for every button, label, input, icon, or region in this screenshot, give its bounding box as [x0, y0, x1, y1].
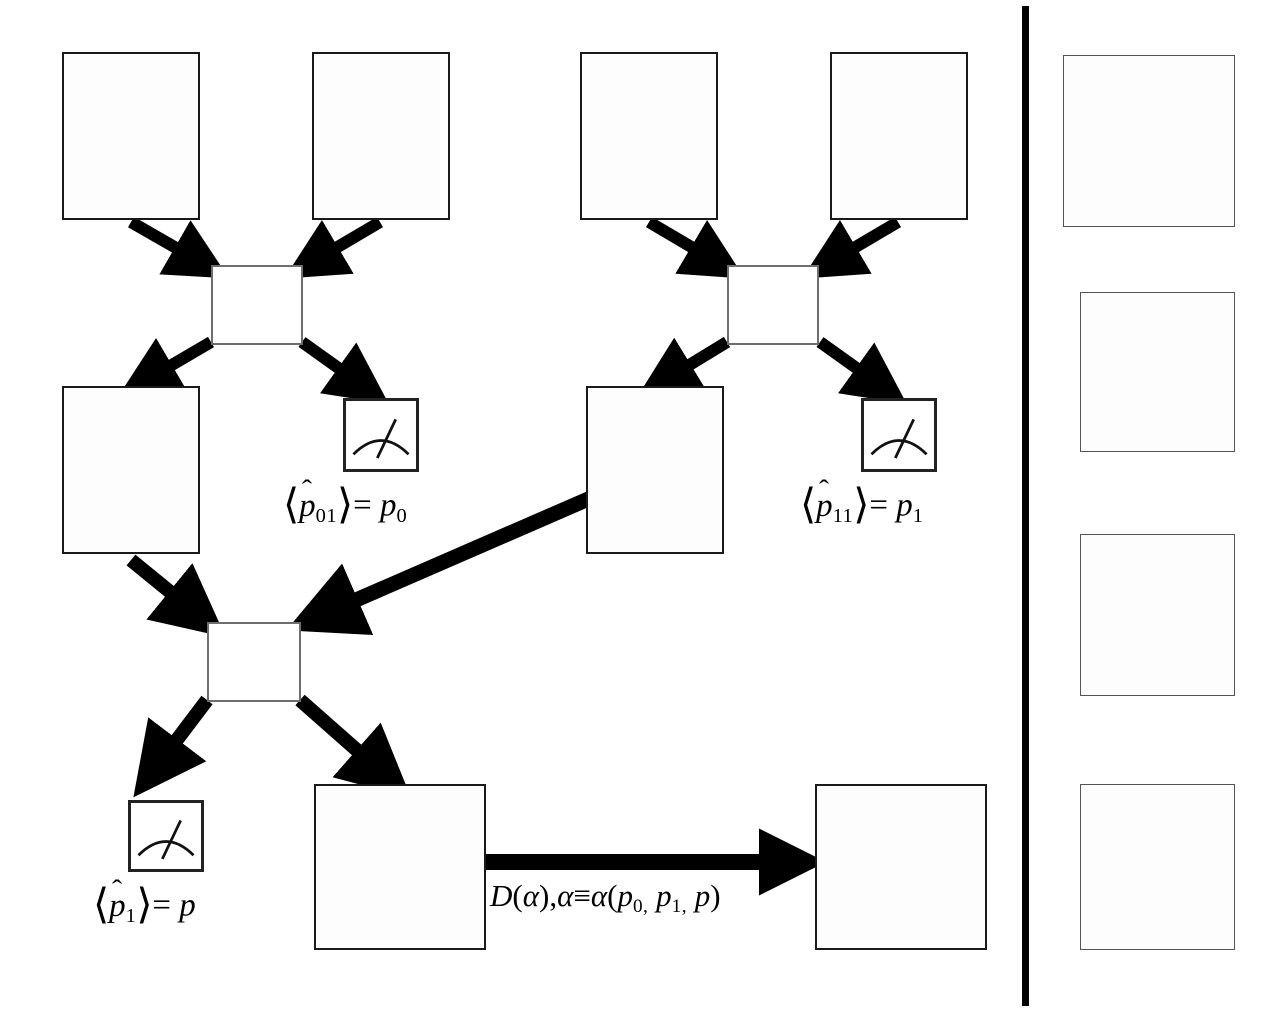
beamsplitter-right: [727, 265, 819, 345]
correct-formula: D(α),α≡α(p0, p1, p): [490, 880, 721, 916]
right-wigner-plot-final: [1080, 534, 1235, 696]
wigner-plot-final-corr: [815, 784, 987, 950]
panel-divider: [1022, 6, 1029, 1006]
wigner-plot-final: [314, 784, 486, 950]
figure-canvas: ⟨̂p01⟩= p0 ⟨̂p11⟩= p1 ⟨̂p1⟩= p D(α),α≡α(…: [0, 0, 1288, 1012]
detector-result-1: ⟨̂p1⟩= p: [93, 884, 196, 927]
gauge-icon: [346, 401, 416, 469]
right-wigner-plot-00: [1063, 55, 1235, 227]
gauge-icon: [131, 803, 201, 869]
wigner-plot-mid-0: [62, 386, 200, 554]
right-wigner-plot-final-corr: [1080, 784, 1235, 950]
wigner-plot-00: [62, 52, 200, 220]
detector-result-01: ⟨̂p01⟩= p0: [283, 484, 407, 527]
wigner-plot-mid-1: [586, 386, 724, 554]
detector-result-11: ⟨̂p11⟩= p1: [800, 484, 923, 527]
wigner-plot-01: [312, 52, 450, 220]
beamsplitter-bottom: [207, 622, 301, 702]
wigner-plot-11: [830, 52, 968, 220]
beamsplitter-left: [211, 265, 303, 345]
right-wigner-plot-0: [1080, 292, 1235, 452]
detector-box-1: [128, 800, 204, 872]
detector-box-11: [861, 398, 937, 472]
gauge-icon: [864, 401, 934, 469]
wigner-plot-10: [580, 52, 718, 220]
detector-box-01: [343, 398, 419, 472]
